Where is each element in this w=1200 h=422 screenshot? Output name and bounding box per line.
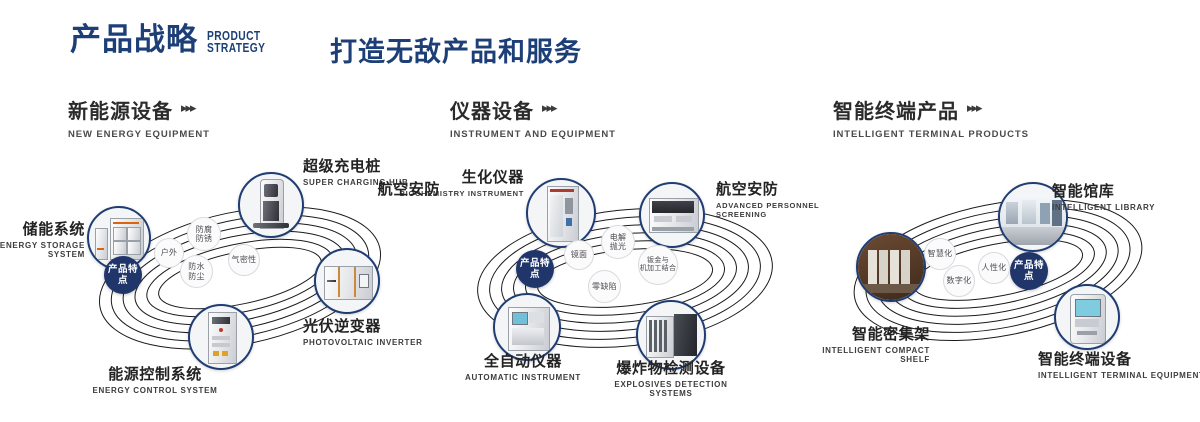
page-title-cn: 产品战略 [70,24,198,55]
label-cn: 全自动仪器 [448,350,598,371]
node-energy-control-system[interactable] [188,304,254,370]
label-cn: 智能馆库 [1052,180,1200,201]
feature-bubble-mirror-finish: 镜面 [564,240,594,270]
node-advanced-personnel-screening[interactable] [639,182,705,248]
charging-pile-icon [240,174,302,236]
label-intelligent-library: 智能馆库 INTELLIGENT LIBRARY [1052,180,1200,212]
feature-bubble-label: 防水 防尘 [188,262,205,281]
label-explosives-detection-systems: 爆炸物检测设备 EXPLOSIVES DETECTION SYSTEMS [596,357,746,398]
label-cn: 航空安防 [350,178,440,199]
section-title-cn: 智能终端产品 [833,95,959,124]
section-heading-new-energy: 新能源设备▸▸▸ NEW ENERGY EQUIPMENT [68,95,210,140]
feature-bubble-label: 镜面 [571,250,588,260]
feature-bubble-label: 人性化 [982,263,1007,273]
feature-bubble-zero-defect: 零缺陷 [588,270,621,303]
cluster-intelligent-terminal: 产品特点 智慧化 人性化 数字化 智能馆库 INTELLIGENT LIBRAR… [820,160,1190,390]
chevron-right-icon: ▸▸▸ [967,100,981,116]
feature-bubble-smart: 智慧化 [924,238,956,270]
section-heading-intelligent-terminal: 智能终端产品▸▸▸ INTELLIGENT TERMINAL PRODUCTS [833,95,1029,140]
label-energy-storage-system: 储能系统 ENERGY STORAGE SYSTEM [0,218,85,259]
label-cn: 光伏逆变器 [303,315,463,336]
label-en: INTELLIGENT COMPACT SHELF [810,346,930,364]
feature-bubble-airtightness: 气密性 [228,244,260,276]
section-title-en: NEW ENERGY EQUIPMENT [68,129,210,140]
label-en: EXPLOSIVES DETECTION SYSTEMS [596,380,746,398]
center-badge-label: 产品特点 [1010,260,1048,282]
page-title-en-line2: STRATEGY [207,43,265,55]
label-automatic-instrument: 全自动仪器 AUTOMATIC INSTRUMENT [448,350,598,382]
feature-bubble-label: 防腐 防锈 [196,225,213,244]
label-cn: 智能密集架 [810,323,930,344]
node-intelligent-compact-shelf[interactable] [856,232,926,302]
feature-bubble-outdoor: 户外 [154,238,184,268]
chevron-right-icon: ▸▸▸ [181,100,195,116]
node-super-charging-hub[interactable] [238,172,304,238]
label-photovoltaic-inverter: 光伏逆变器 PHOTOVOLTAIC INVERTER [303,315,463,347]
center-badge-product-features: 产品特点 [104,256,142,294]
label-cn: 爆炸物检测设备 [596,357,746,378]
label-cn: 能源控制系统 [65,363,245,384]
feature-bubble-label: 数字化 [947,276,972,286]
label-intelligent-terminal-equipment: 智能终端设备 INTELLIGENT TERMINAL EQUIPMENT [1038,348,1200,380]
chevron-right-icon: ▸▸▸ [542,100,556,116]
center-badge-product-features: 产品特点 [1010,252,1048,290]
section-title-en: INSTRUMENT AND EQUIPMENT [450,129,616,140]
label-aviation-security-left: 航空安防 [350,178,440,199]
page-title-en: PRODUCT STRATEGY [207,31,265,54]
feature-bubble-label: 钣金与 机加工结合 [640,257,677,274]
label-en: ENERGY STORAGE SYSTEM [0,241,85,259]
feature-bubble-label: 户外 [161,248,178,258]
section-title-en: INTELLIGENT TERMINAL PRODUCTS [833,129,1029,140]
feature-bubble-digital: 数字化 [943,265,975,297]
feature-bubble-humanized: 人性化 [978,252,1010,284]
node-biochemistry-instrument[interactable] [526,178,596,248]
label-cn: 智能终端设备 [1038,348,1200,369]
page-header: 产品战略 PRODUCT STRATEGY [70,24,278,55]
terminal-kiosk-icon [1056,286,1118,348]
center-badge-label: 产品特点 [104,264,142,286]
label-en: INTELLIGENT LIBRARY [1052,203,1200,212]
feature-bubble-sheetmetal-machining: 钣金与 机加工结合 [638,245,678,285]
section-title-cn: 新能源设备 [68,95,173,124]
page-subtitle: 打造无敌产品和服务 [330,30,582,69]
feature-bubble-label: 智慧化 [928,249,953,259]
label-en: INTELLIGENT TERMINAL EQUIPMENT [1038,371,1200,380]
label-en: ENERGY CONTROL SYSTEM [65,386,245,395]
feature-bubble-label: 电解 抛光 [610,233,627,252]
label-en: PHOTOVOLTAIC INVERTER [303,338,463,347]
center-badge-product-features: 产品特点 [516,250,554,288]
feature-bubble-electropolishing: 电解 抛光 [601,225,635,259]
feature-bubble-label: 零缺陷 [592,282,617,292]
section-heading-instrument: 仪器设备▸▸▸ INSTRUMENT AND EQUIPMENT [450,95,616,140]
screening-machine-icon [641,184,703,246]
pv-inverter-icon [316,250,378,312]
label-cn: 储能系统 [0,218,85,239]
control-cabinet-icon [190,306,252,368]
product-strategy-infographic: 产品战略 PRODUCT STRATEGY 打造无敌产品和服务 新能源设备▸▸▸… [0,0,1200,422]
cluster-instrument: 产品特点 镜面 电解 抛光 钣金与 机加工结合 零缺陷 生化仪器 BIOCHEM… [440,160,810,390]
feature-bubble-anti-corrosion: 防腐 防锈 [187,217,221,251]
section-title-cn: 仪器设备 [450,95,534,124]
label-energy-control-system: 能源控制系统 ENERGY CONTROL SYSTEM [65,363,245,395]
compact-shelf-icon [858,234,924,300]
center-badge-label: 产品特点 [516,258,554,280]
node-photovoltaic-inverter[interactable] [314,248,380,314]
biochem-instrument-icon [528,180,594,246]
feature-bubble-label: 气密性 [232,255,257,265]
label-en: AUTOMATIC INSTRUMENT [448,373,598,382]
node-intelligent-terminal-equipment[interactable] [1054,284,1120,350]
label-intelligent-compact-shelf: 智能密集架 INTELLIGENT COMPACT SHELF [810,323,930,364]
feature-bubble-waterproof: 防水 防尘 [180,255,213,288]
